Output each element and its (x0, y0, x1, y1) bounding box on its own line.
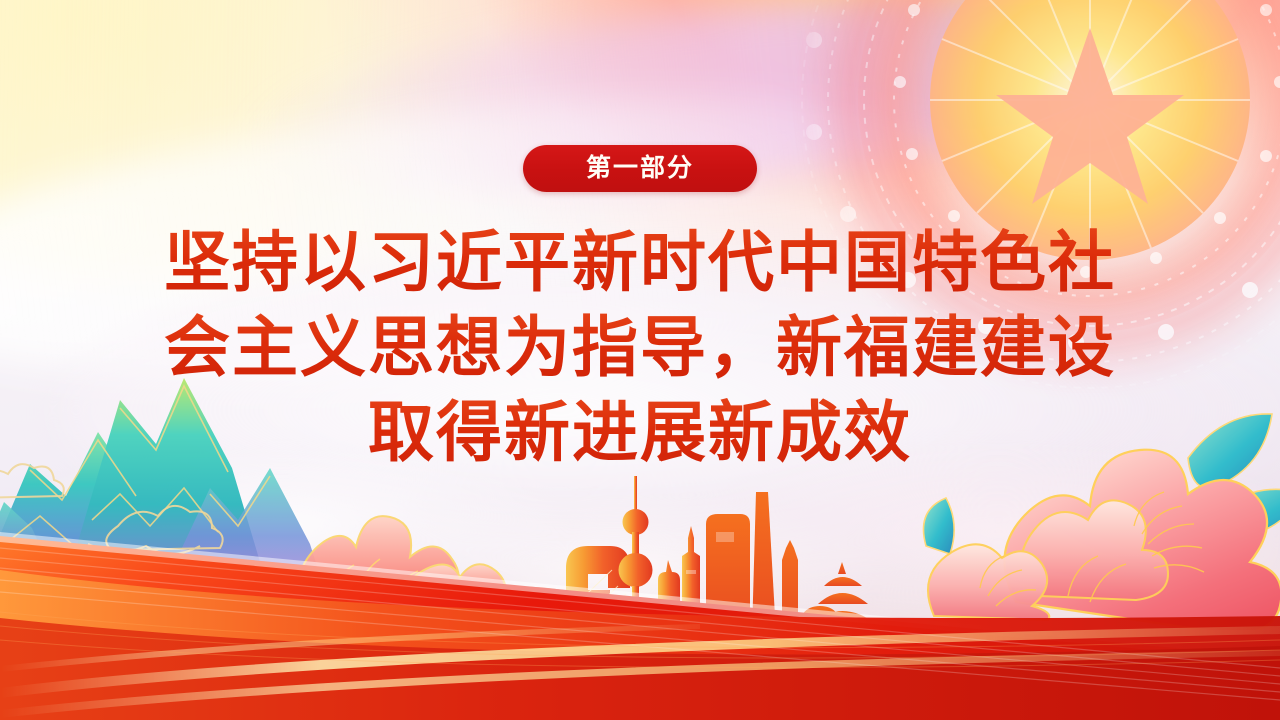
title-line-2: 会主义思想为指导，新福建建设 (0, 305, 1280, 390)
slide-content: 第一部分 坚持以习近平新时代中国特色社 会主义思想为指导，新福建建设 取得新进展… (0, 0, 1280, 720)
presentation-slide: 第一部分 坚持以习近平新时代中国特色社 会主义思想为指导，新福建建设 取得新进展… (0, 0, 1280, 720)
title-line-3: 取得新进展新成效 (0, 390, 1280, 475)
page-title: 坚持以习近平新时代中国特色社 会主义思想为指导，新福建建设 取得新进展新成效 (0, 220, 1280, 475)
title-line-1: 坚持以习近平新时代中国特色社 (0, 220, 1280, 305)
section-badge: 第一部分 (523, 145, 757, 192)
